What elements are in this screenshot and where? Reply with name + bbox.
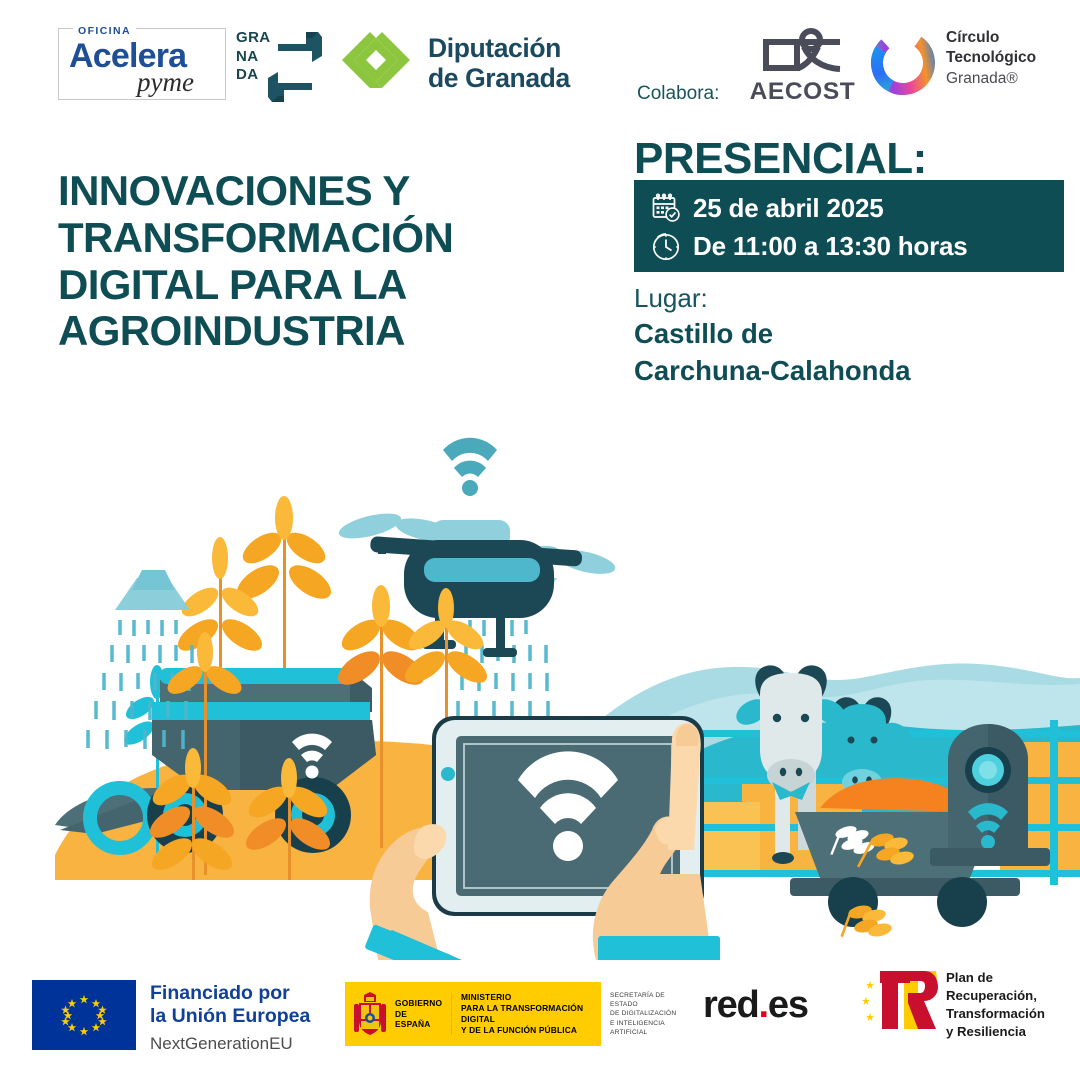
eu-funding-text: Financiado por la Unión Europea NextGene… [150, 982, 310, 1054]
tr-mark-icon [862, 967, 940, 1033]
page-title-line-4: AGROINDUSTRIA [58, 308, 588, 355]
red-es-logo: red.es [703, 984, 808, 1027]
ministerio-line-2: PARA LA TRANSFORMACIÓN DIGITAL [461, 1003, 594, 1025]
event-datetime-panel: 25 de abril 2025 De 11:00 a 13:30 horas [634, 180, 1064, 272]
european-union-funding-logo: Financiado por la Unión Europea NextGene… [32, 974, 332, 1056]
event-place-line-2: Carchuna-Calahonda [634, 353, 1054, 390]
aecost-wordmark: AECOST [745, 78, 860, 106]
secretaria-text: SECRETARÍA DE ESTADO DE DIGITALIZACIÓN E… [610, 991, 690, 1038]
diputacion-de-granada-logo: Diputación de Granada [330, 28, 580, 102]
diputacion-line-2: de Granada [428, 64, 570, 94]
diputacion-wordmark: Diputación de Granada [428, 34, 570, 93]
circulo-line-3: Granada® [946, 69, 1036, 89]
secretaria-line-3: E INTELIGENCIA ARTIFICIAL [610, 1019, 690, 1038]
spain-coat-of-arms-icon [351, 991, 389, 1037]
aecost-mark-icon [763, 28, 843, 76]
granada-arrow-top-icon [278, 32, 322, 62]
circulo-tecnologico-granada-logo: Círculo Tecnológico Granada® [868, 22, 1068, 104]
event-place-value: Castillo de Carchuna-Calahonda [634, 316, 1054, 389]
secretaria-panel: SECRETARÍA DE ESTADO DE DIGITALIZACIÓN E… [600, 982, 690, 1046]
circulo-ring-icon [868, 28, 938, 98]
event-place-line-1: Castillo de [634, 316, 1054, 353]
gobierno-divider [451, 993, 452, 1035]
gobierno-de-espana-logo: GOBIERNO DE ESPAÑA MINISTERIO PARA LA TR… [345, 982, 690, 1046]
footer-logo-bar: Financiado por la Unión Europea NextGene… [0, 960, 1080, 1080]
plan-text: Plan de Recuperación, Transformación y R… [946, 969, 1045, 1041]
aecost-logo: AECOST [745, 28, 860, 106]
acelera-pyme-logo: OFICINA Acelera pyme [58, 28, 226, 100]
plan-line-4: y Resiliencia [946, 1023, 1045, 1041]
page-title: INNOVACIONES Y TRANSFORMACIÓN DIGITAL PA… [58, 168, 588, 355]
event-mode-label: PRESENCIAL: [634, 134, 927, 184]
ministerio-line-1: MINISTERIO [461, 992, 594, 1003]
diputacion-line-1: Diputación [428, 34, 570, 64]
diputacion-mark-icon [330, 30, 422, 96]
eu-line-3: NextGenerationEU [150, 1034, 310, 1054]
granada-logo: GRA NA DA [236, 26, 322, 104]
plan-recuperacion-logo: Plan de Recuperación, Transformación y R… [862, 965, 1062, 1045]
page-title-line-1: INNOVACIONES Y [58, 168, 588, 215]
redes-part-2: es [768, 984, 808, 1026]
agro-digital-illustration [0, 430, 1080, 960]
circulo-line-2: Tecnológico [946, 48, 1036, 68]
secretaria-line-2: DE DIGITALIZACIÓN [610, 1009, 690, 1018]
granada-line-1: GRA [236, 29, 280, 48]
eu-line-1: Financiado por [150, 982, 310, 1005]
eu-line-2: la Unión Europea [150, 1005, 310, 1028]
event-time-row: De 11:00 a 13:30 horas [650, 227, 1064, 265]
eu-flag-icon [32, 980, 136, 1050]
event-date-text: 25 de abril 2025 [693, 193, 883, 224]
ministerio-line-3: Y DE LA FUNCIÓN PÚBLICA [461, 1025, 594, 1036]
plan-line-2: Recuperación, [946, 987, 1045, 1005]
circulo-line-1: Círculo [946, 28, 1036, 48]
colabora-label: Colabora: [637, 83, 719, 105]
poster-root: OFICINA Acelera pyme GRA NA DA [0, 0, 1080, 1080]
event-time-text: De 11:00 a 13:30 horas [693, 231, 968, 262]
calendar-check-icon [650, 192, 682, 224]
acelera-pyme-wordmark: pyme [137, 67, 194, 98]
plan-line-3: Transformación [946, 1005, 1045, 1023]
redes-part-1: red [703, 984, 759, 1026]
ministerio-text: MINISTERIO PARA LA TRANSFORMACIÓN DIGITA… [461, 992, 594, 1036]
event-date-row: 25 de abril 2025 [650, 189, 1064, 227]
page-title-line-3: DIGITAL PARA LA [58, 262, 588, 309]
gobierno-line-2: DE ESPAÑA [395, 1009, 442, 1031]
gobierno-yellow-panel: GOBIERNO DE ESPAÑA MINISTERIO PARA LA TR… [345, 982, 600, 1046]
acelera-oficina-label: OFICINA [78, 25, 131, 37]
gobierno-text: GOBIERNO DE ESPAÑA [395, 998, 442, 1031]
circulo-wordmark: Círculo Tecnológico Granada® [946, 28, 1036, 89]
top-logo-bar: OFICINA Acelera pyme GRA NA DA [0, 0, 1080, 130]
redes-dot: . [759, 984, 768, 1026]
drone-wifi-icon [443, 438, 497, 496]
granada-line-2: NA [236, 48, 280, 67]
gobierno-line-1: GOBIERNO [395, 998, 442, 1009]
page-title-line-2: TRANSFORMACIÓN [58, 215, 588, 262]
event-place-label: Lugar: [634, 283, 708, 314]
granada-arrow-bottom-icon [268, 72, 312, 102]
secretaria-line-1: SECRETARÍA DE ESTADO [610, 991, 690, 1010]
plan-line-1: Plan de [946, 969, 1045, 987]
clock-icon [650, 230, 682, 262]
